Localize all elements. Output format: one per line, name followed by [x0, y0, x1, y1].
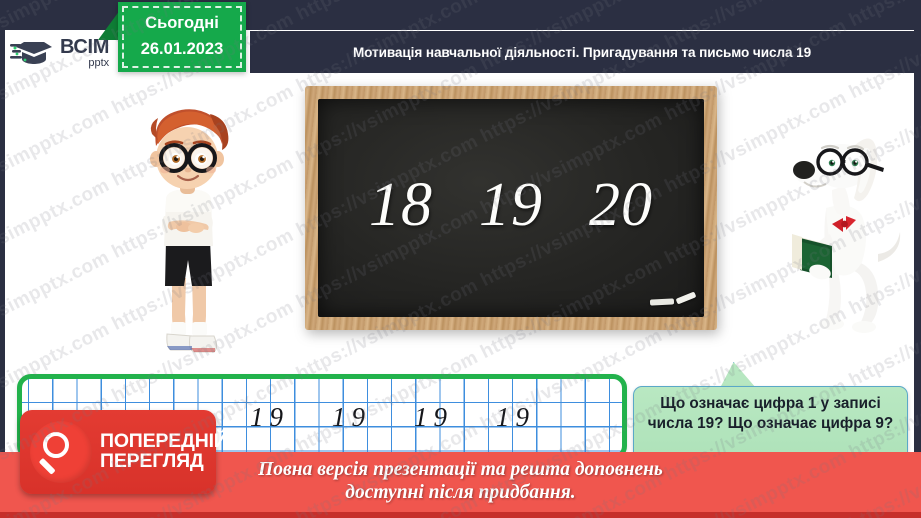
blackboard-wooden-frame: 18 19 20	[305, 86, 717, 330]
logo-wordmark: ВСІМ	[60, 37, 109, 57]
logo-subtext: pptx	[60, 58, 109, 69]
slide-root: ВСІМ pptx Сьогодні 26.01.2023 Мотивація …	[0, 0, 921, 518]
blackboard-numbers: 18 19 20	[369, 170, 653, 241]
handwritten-number: 19	[332, 402, 371, 433]
board-number: 19	[479, 170, 543, 241]
banner-text: Повна версія презентації та решта доповн…	[258, 458, 663, 504]
chalk-stick-icon	[650, 298, 674, 305]
chalk-stick-icon	[676, 291, 697, 304]
slide-title-bar: Мотивація навчальної діяльності. Пригаду…	[250, 31, 914, 73]
blackboard: 18 19 20	[305, 86, 717, 330]
magnifier-icon	[30, 421, 92, 483]
today-date-badge: Сьогодні 26.01.2023	[118, 2, 246, 72]
board-number: 20	[589, 170, 653, 241]
graduation-cap-icon	[10, 38, 54, 68]
question-text: Що означає цифра 1 у записі числа 19? Що…	[634, 387, 907, 434]
speech-bubble-tail	[716, 362, 756, 388]
blackboard-surface: 18 19 20	[318, 99, 704, 317]
banner-line-2: доступні після придбання.	[258, 481, 663, 504]
banner-line-1: Повна версія презентації та решта доповн…	[258, 458, 663, 481]
today-date: 26.01.2023	[141, 37, 224, 63]
preview-label-line-2: ПЕРЕГЛЯД	[100, 452, 228, 472]
dog-with-book-character	[792, 112, 916, 360]
handwritten-number: 19	[414, 402, 453, 433]
handwritten-number: 19	[496, 402, 535, 433]
today-label: Сьогодні	[145, 11, 219, 37]
board-number: 18	[369, 170, 433, 241]
boy-with-glasses-character	[122, 100, 252, 362]
left-edge-strip	[0, 0, 5, 518]
page-title: Мотивація навчальної діяльності. Пригаду…	[353, 45, 811, 60]
preview-badge[interactable]: ПОПЕРЕДНІЙ ПЕРЕГЛЯД	[20, 410, 216, 494]
handwritten-number: 19	[250, 402, 289, 433]
